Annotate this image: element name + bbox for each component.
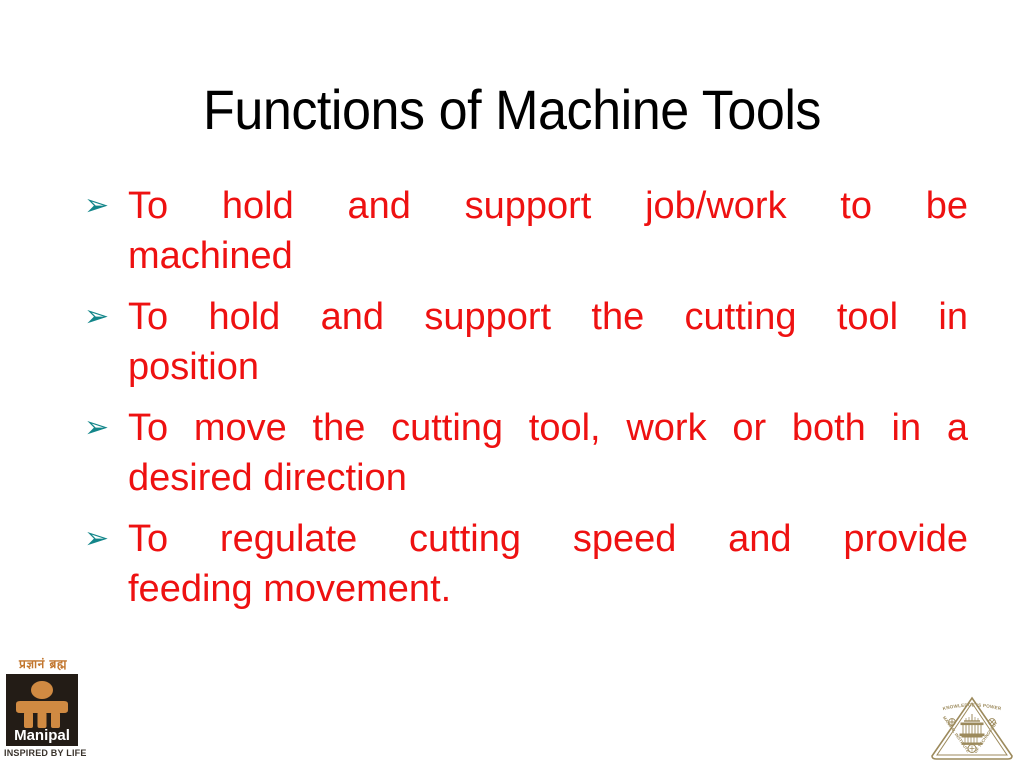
arrow-bullet-icon: ➢ bbox=[84, 403, 118, 453]
manipal-sanskrit-motto: प्रज्ञानं ब्रह्म bbox=[4, 655, 82, 673]
list-item-line-2: position bbox=[128, 342, 968, 392]
mit-crest-icon: KNOWLEDGE IS POWER MANIPAL INSTITUTE OF … bbox=[928, 694, 1016, 762]
manipal-tagline: INSPIRED BY LIFE bbox=[4, 748, 82, 758]
list-item-line-2: machined bbox=[128, 231, 968, 281]
list-item: ➢ To regulate cutting speed and provide … bbox=[84, 514, 968, 614]
manipal-wordmark: Manipal bbox=[6, 727, 78, 744]
arrow-bullet-icon: ➢ bbox=[84, 514, 118, 564]
manipal-human-figure-icon bbox=[6, 680, 78, 728]
list-item-line-1: To hold and support the cutting tool in bbox=[128, 292, 968, 342]
page-title: Functions of Machine Tools bbox=[92, 78, 933, 142]
manipal-logo: प्रज्ञानं ब्रह्म Manipal INSPIRED BY LIF… bbox=[4, 655, 82, 763]
svg-text:KNOWLEDGE IS POWER: KNOWLEDGE IS POWER bbox=[942, 702, 1002, 711]
list-item: ➢ To move the cutting tool, work or both… bbox=[84, 403, 968, 503]
list-item: ➢ To hold and support job/work to be mac… bbox=[84, 181, 968, 281]
bullet-list: ➢ To hold and support job/work to be mac… bbox=[84, 181, 968, 614]
list-item-line-2: desired direction bbox=[128, 453, 968, 503]
list-item-line-1: To move the cutting tool, work or both i… bbox=[128, 403, 968, 453]
list-item-line-2: feeding movement. bbox=[128, 564, 968, 614]
manipal-logo-mark: Manipal bbox=[6, 674, 78, 746]
list-item: ➢ To hold and support the cutting tool i… bbox=[84, 292, 968, 392]
list-item-line-1: To regulate cutting speed and provide bbox=[128, 514, 968, 564]
presentation-slide: Functions of Machine Tools ➢ To hold and… bbox=[0, 0, 1024, 768]
list-item-line-1: To hold and support job/work to be bbox=[128, 181, 968, 231]
arrow-bullet-icon: ➢ bbox=[84, 181, 118, 231]
arrow-bullet-icon: ➢ bbox=[84, 292, 118, 342]
mit-crest-logo: KNOWLEDGE IS POWER MANIPAL INSTITUTE OF … bbox=[928, 694, 1016, 762]
